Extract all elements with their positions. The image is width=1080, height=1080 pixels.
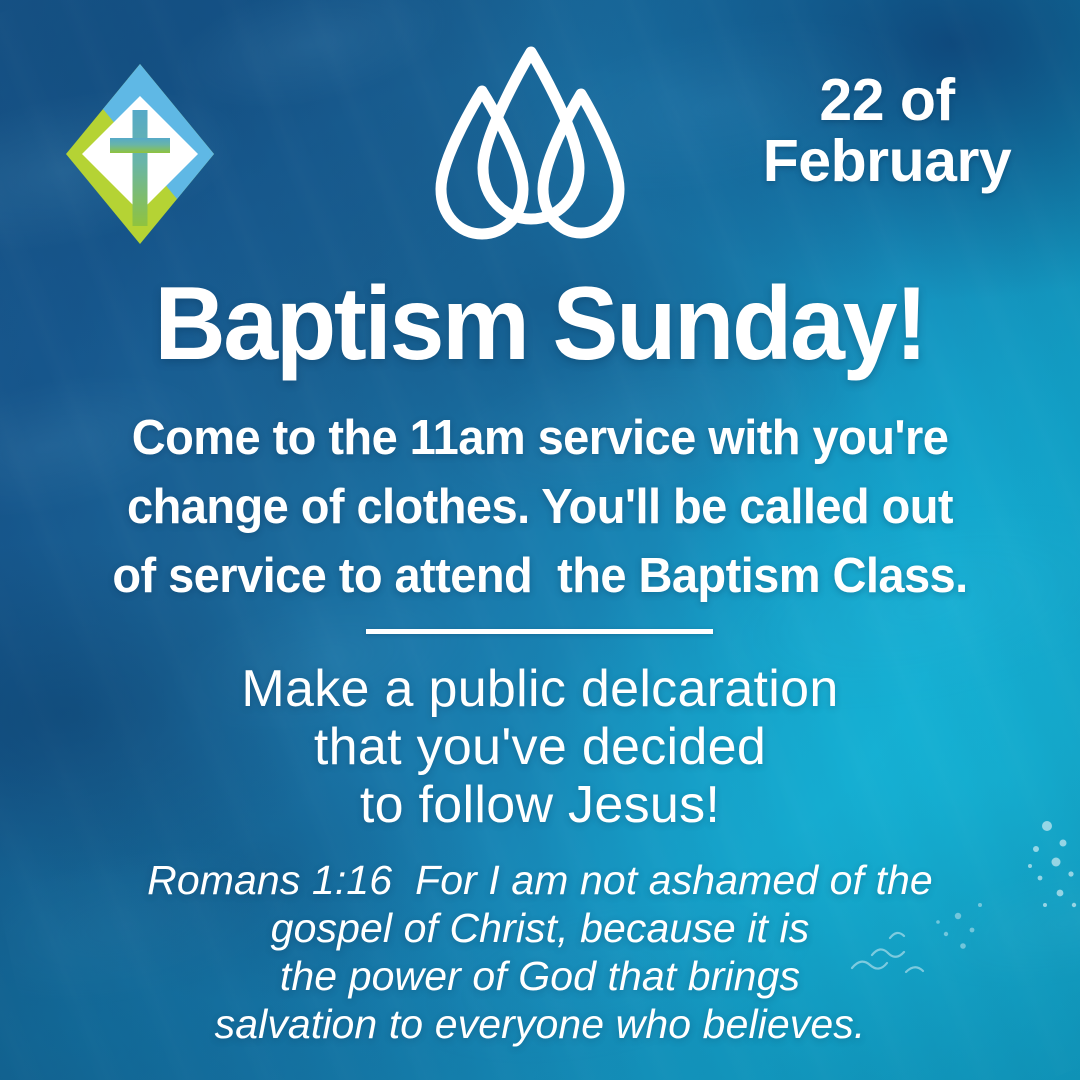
declaration-line-3: to follow Jesus! xyxy=(90,776,990,834)
instructions-paragraph: Come to the 11am service with you're cha… xyxy=(81,404,999,611)
scripture-line-4: salvation to everyone who believes. xyxy=(90,1000,990,1048)
scripture-line-2: gospel of Christ, because it is xyxy=(90,904,990,952)
declaration-text: Make a public delcaration that you've de… xyxy=(90,660,990,834)
baptism-sunday-flyer: 22 of February Baptism Sunday! Come to t… xyxy=(0,0,1080,1080)
water-droplets-icon xyxy=(425,42,660,257)
scripture-line-1: Romans 1:16 For I am not ashamed of the xyxy=(90,856,990,904)
event-date: 22 of February xyxy=(722,70,1052,192)
declaration-line-2: that you've decided xyxy=(90,718,990,776)
scripture-line-3: the power of God that brings xyxy=(90,952,990,1000)
scripture-quote: Romans 1:16 For I am not ashamed of the … xyxy=(90,856,990,1048)
instructions-line-2: change of clothes. You'll be called out xyxy=(81,473,999,542)
date-line-2: February xyxy=(722,131,1052,192)
declaration-line-1: Make a public delcaration xyxy=(90,660,990,718)
page-title: Baptism Sunday! xyxy=(27,272,1053,376)
divider-rule xyxy=(366,629,713,634)
instructions-line-1: Come to the 11am service with you're xyxy=(81,404,999,473)
date-line-1: 22 of xyxy=(722,70,1052,131)
church-logo xyxy=(60,58,220,250)
instructions-line-3: of service to attend the Baptism Class. xyxy=(81,542,999,611)
